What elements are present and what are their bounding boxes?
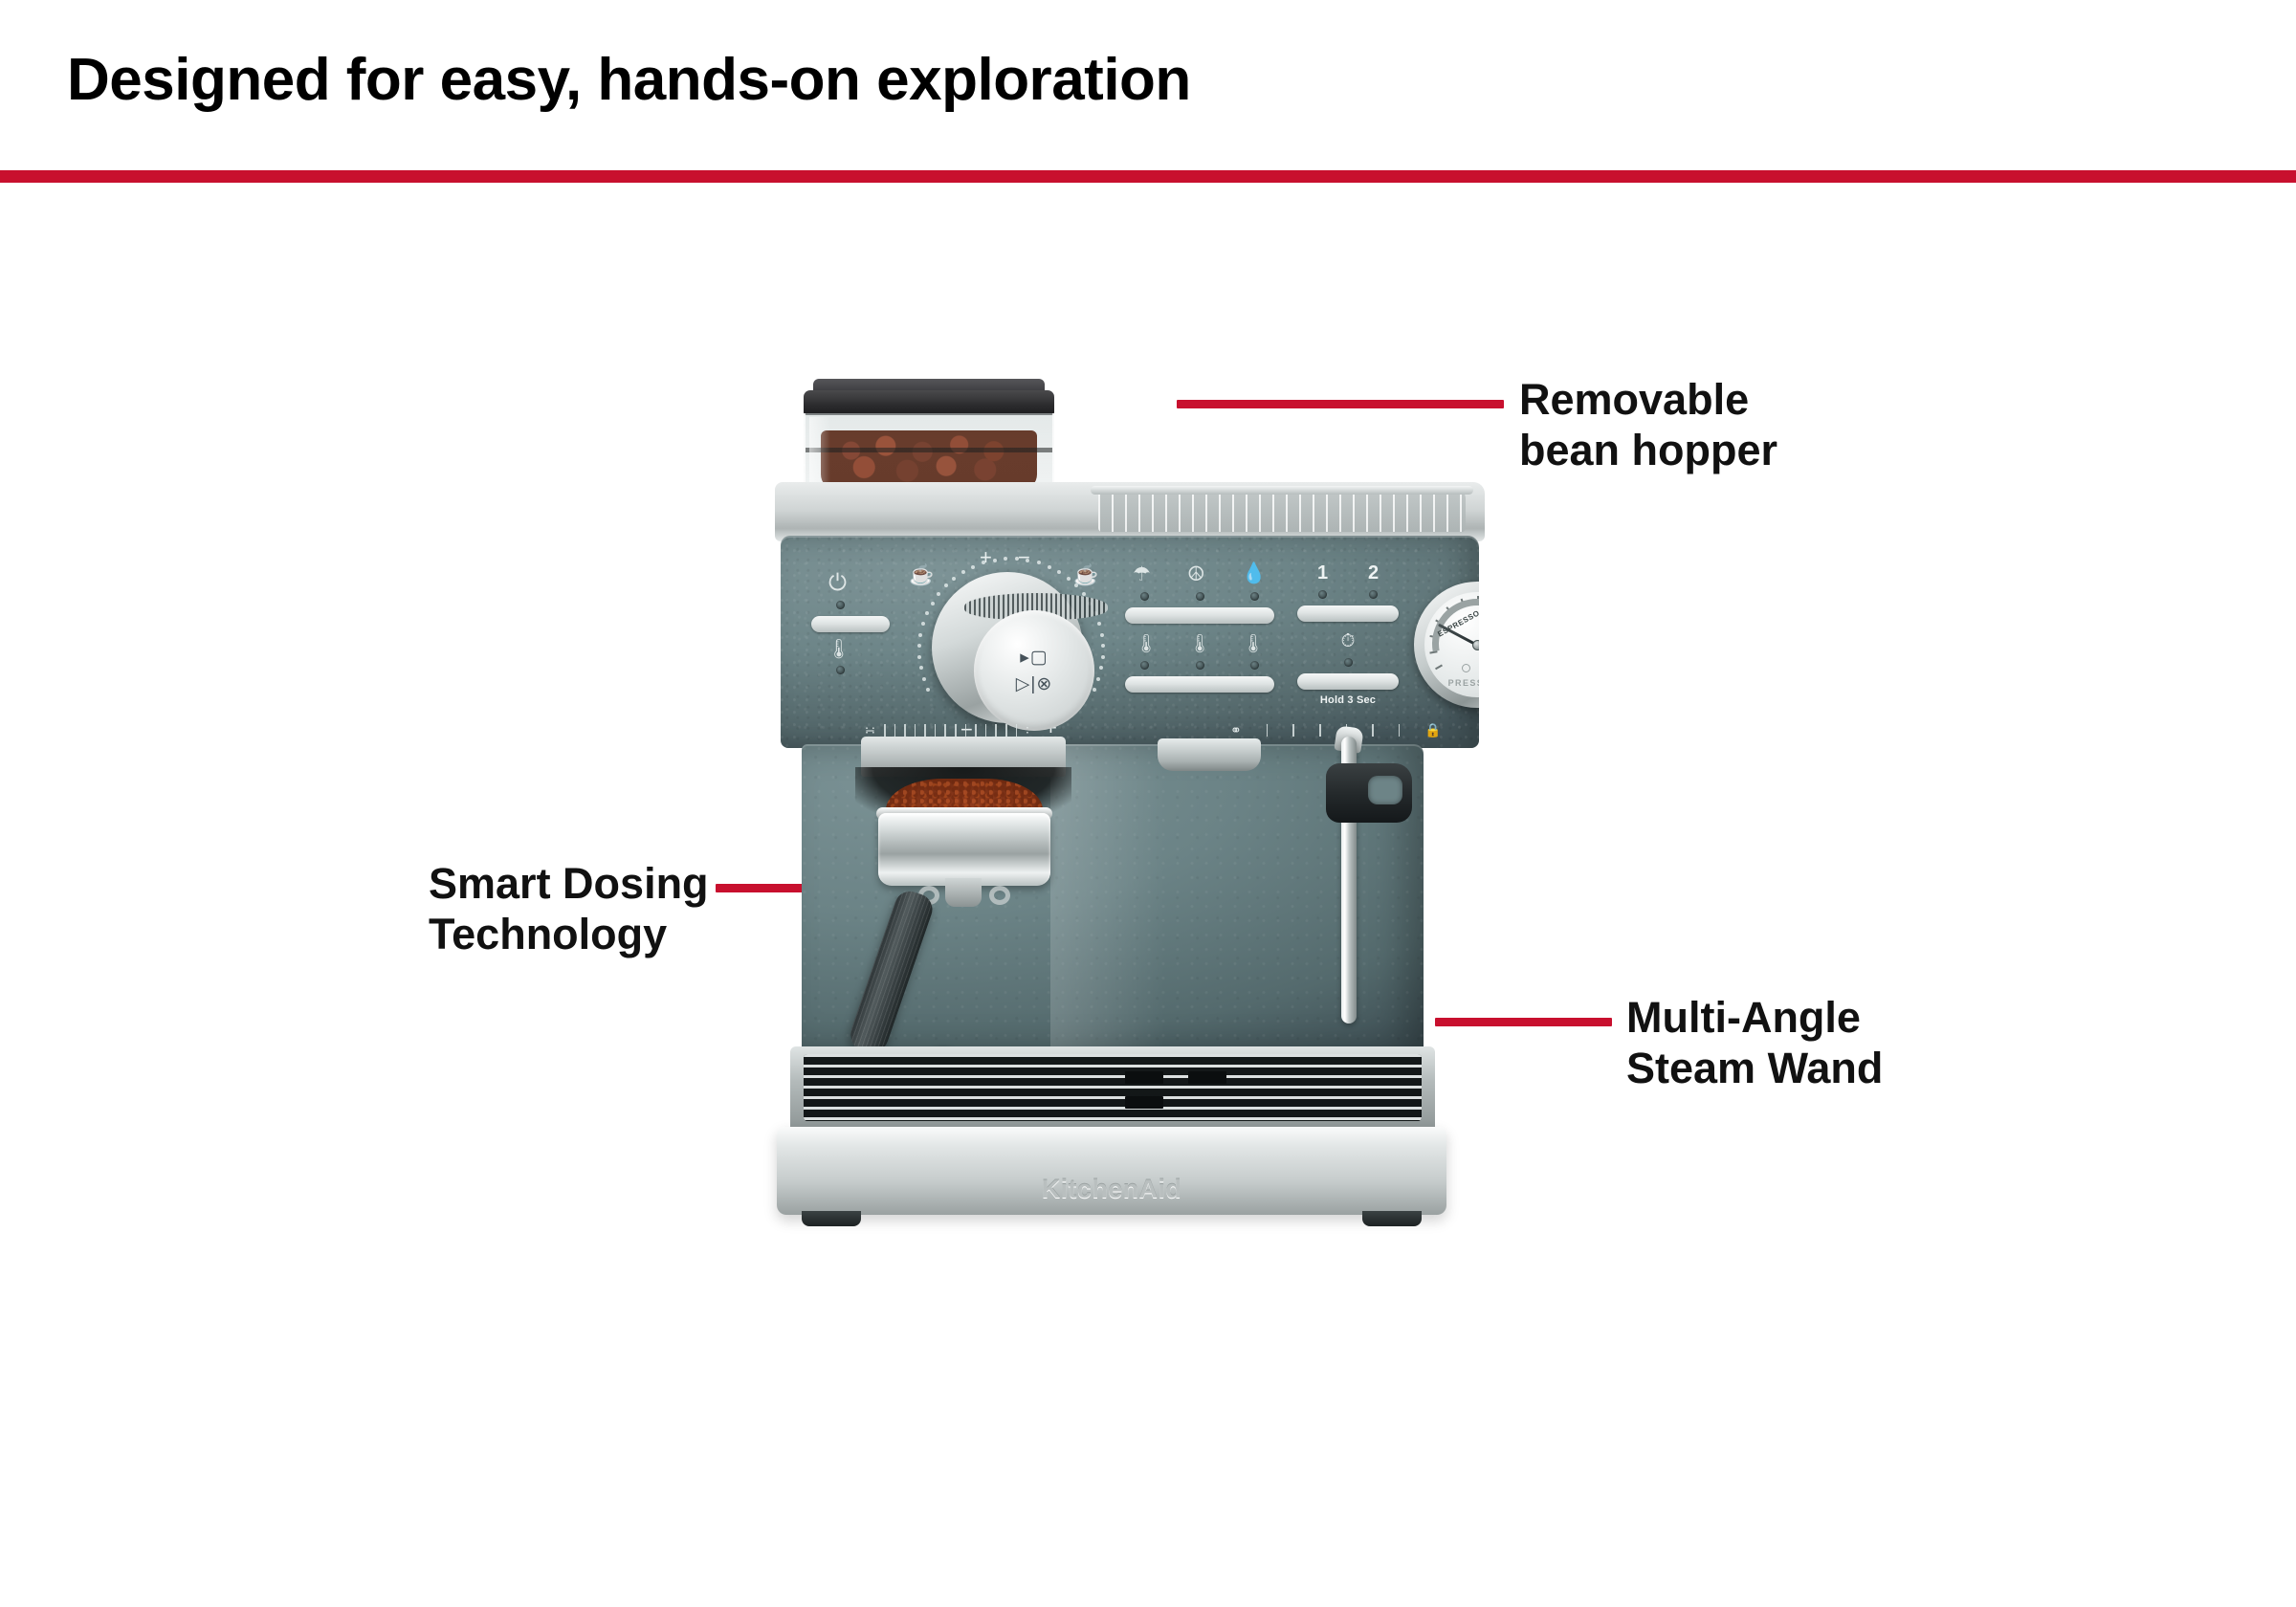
grind-tick (944, 724, 946, 737)
infographic-page: Designed for easy, hands-on exploration … (0, 0, 2296, 1607)
grind-size-scale[interactable]: ∺ ∶ (865, 724, 1029, 737)
portafilter-icon: ⚭ (1230, 723, 1242, 737)
shot-led-1 (1318, 590, 1327, 599)
dial-scale-dot (917, 655, 921, 659)
dial-scale-dot (1004, 557, 1007, 561)
power-icon: ⏻ (828, 570, 847, 597)
lock-icon: 🔒 (1424, 723, 1441, 737)
title-divider (0, 170, 2296, 183)
dial-scale-dot (961, 570, 965, 574)
drip-tray[interactable] (790, 1046, 1435, 1134)
hopper-seam (806, 448, 1052, 452)
machine-base: KitchenAid (777, 1127, 1446, 1215)
portafilter-basket[interactable] (878, 813, 1050, 886)
drip-tray-slot (1125, 1096, 1163, 1109)
dial-scale-dot (1097, 622, 1101, 626)
dial-scale-dot (1015, 557, 1019, 561)
beverage-icon-row: ☂ ☮ 💧 (1125, 562, 1274, 586)
cup-warming-tray (1098, 490, 1466, 532)
base-foot-left (802, 1211, 861, 1226)
warming-tray-ribs (1098, 490, 1466, 532)
grind-tick (955, 724, 957, 737)
dial-scale-dot (1026, 559, 1029, 562)
shot-select-button[interactable] (1297, 605, 1399, 622)
callout-multi-angle-steam-wand: Multi-Angle Steam Wand (1626, 993, 1883, 1093)
temperature-led (1250, 661, 1259, 670)
drip-tray-ribs (804, 1054, 1422, 1121)
top-plate (775, 482, 1485, 541)
temperature-led (1140, 661, 1149, 670)
coffee-beans (821, 430, 1037, 490)
gauge-subdial-left (1462, 664, 1470, 672)
grind-tick (975, 724, 977, 737)
dial-scale-dot (1067, 577, 1071, 581)
control-head: ⏻ 🌡 + − ☕ ☕ − + ▸▢ ▷|⊗ (781, 536, 1479, 748)
grind-tick (935, 724, 937, 737)
dial-scale-dot (917, 644, 921, 648)
lock-tick (1372, 724, 1374, 737)
drip-tray-openings (1125, 1071, 1261, 1094)
beverage-led (1140, 592, 1149, 601)
dial-scale-dot (1037, 561, 1041, 564)
secondary-brew-outlet (1158, 738, 1261, 771)
dial-scale-dot (1099, 666, 1103, 670)
beverage-select-button[interactable] (1125, 607, 1274, 624)
brand-wordmark: KitchenAid (777, 1175, 1446, 1204)
dial-scale-dot (1096, 677, 1100, 681)
shot-count-group: 1 2 ⏱ Hold 3 Sec (1297, 562, 1399, 706)
gauge-face: ESPRESSO RANGE PRESSURE (1424, 592, 1479, 697)
power-indicator-led (836, 601, 845, 609)
drip-tray-slot (1125, 1071, 1163, 1084)
drip-tray-grille (804, 1054, 1422, 1121)
grind-tick (965, 724, 967, 737)
callout-smart-dosing-technology: Smart Dosing Technology (429, 859, 716, 959)
front-scales-band: ∺ ∶ ⚭ 🔒 (781, 710, 1479, 738)
temperature-indicator-led (836, 666, 845, 674)
callout-label-steam-wand: Multi-Angle Steam Wand (1626, 993, 1883, 1093)
callout-removable-bean-hopper: Removable bean hopper (1519, 375, 1777, 475)
temp-mid-icon: 🌡 (1188, 632, 1211, 655)
temperature-icon-row: 🌡 🌡 🌡 (1125, 632, 1274, 655)
temp-low-icon: 🌡 (1135, 632, 1158, 655)
portafilter-lugs (918, 886, 1010, 907)
dial-scale-dot (922, 677, 926, 681)
grind-coarse-icon: ∶ (1026, 724, 1028, 737)
shot-label-2: 2 (1368, 562, 1379, 584)
grind-tick (884, 724, 886, 737)
beverage-led (1250, 592, 1259, 601)
gauge-subdials (1424, 664, 1479, 672)
temperature-led-row (1125, 661, 1274, 670)
steam-wand-grip[interactable] (1326, 763, 1412, 823)
dial-scale-dot (944, 583, 948, 587)
bean-hopper-lid[interactable] (804, 390, 1054, 415)
steam-wand-grip-opening (1368, 776, 1402, 804)
portafilter-lug-right (989, 886, 1010, 905)
lock-tick (1292, 724, 1294, 737)
temperature-select-button[interactable] (1125, 676, 1274, 693)
grind-tick (915, 724, 916, 737)
gauge-hub (1472, 640, 1480, 650)
callout-label-smart-dosing: Smart Dosing Technology (429, 859, 716, 959)
dial-scale-dot (1048, 565, 1051, 569)
grind-tick (995, 724, 997, 737)
lock-tick (1319, 724, 1321, 737)
dial-scale-dot (1101, 655, 1105, 659)
dial-scale-dot (918, 633, 922, 637)
water-drop-icon: 💧 (1242, 562, 1267, 586)
dial-scale-dot (926, 688, 930, 692)
grind-tick (985, 724, 987, 737)
temperature-led (1196, 661, 1204, 670)
dial-scale-dot (1100, 633, 1104, 637)
dial-scale-dot (971, 565, 975, 569)
shot-led-row (1297, 590, 1399, 599)
dial-scale-dot (921, 622, 925, 626)
dial-scale-dot (1057, 570, 1061, 574)
dial-scale-dot (1074, 583, 1078, 587)
hold-3-sec-label: Hold 3 Sec (1297, 694, 1399, 706)
grind-tick (1016, 724, 1018, 737)
grind-fine-icon: ∺ (865, 724, 875, 737)
temperature-icon: 🌡 (827, 637, 850, 661)
grind-tick (1005, 724, 1007, 737)
dial-scale-dot (952, 577, 956, 581)
dial-scale-dot (925, 611, 929, 615)
grind-tick (894, 724, 896, 737)
power-button[interactable] (811, 616, 890, 632)
lock-tick (1267, 724, 1269, 737)
grind-tick (924, 724, 926, 737)
americano-cup-icon: ☂ (1133, 562, 1151, 586)
lock-tick (1399, 724, 1401, 737)
dial-scale-dot (937, 592, 940, 596)
shot-timer-led-row (1297, 658, 1399, 667)
grind-dial-ring[interactable]: ▸▢ ▷|⊗ (932, 572, 1083, 723)
dial-scale-dot (1101, 644, 1105, 648)
drip-tray-slot (1188, 1071, 1226, 1084)
gauge-unit-label: PRESSURE (1434, 678, 1479, 688)
temp-high-icon: 🌡 (1242, 632, 1265, 655)
dial-scale-dot (982, 561, 985, 564)
beverage-led-row (1125, 592, 1274, 601)
callout-label-bean-hopper: Removable bean hopper (1519, 375, 1777, 475)
beverage-led (1196, 592, 1204, 601)
warming-tray-rail (1091, 486, 1473, 495)
shot-number-row: 1 2 (1297, 562, 1399, 584)
shot-timer-button[interactable] (1297, 673, 1399, 690)
start-stop-icon: ▷|⊗ (1016, 673, 1052, 695)
grind-tick (904, 724, 906, 737)
shot-timer-led (1344, 658, 1353, 667)
espresso-machine-product-image: ⏻ 🌡 + − ☕ ☕ − + ▸▢ ▷|⊗ (756, 362, 1512, 1423)
pressure-gauge: ESPRESSO RANGE PRESSURE (1414, 582, 1479, 708)
shot-timer-icon: ⏱ (1297, 631, 1399, 652)
dial-scale-dot (931, 602, 935, 605)
base-foot-right (1362, 1211, 1422, 1226)
shot-led-2 (1369, 590, 1378, 599)
dial-scale-dot (993, 559, 997, 562)
shot-label-1: 1 (1317, 562, 1328, 584)
steam-icon: ☮ (1187, 562, 1205, 586)
page-title: Designed for easy, hands-on exploration (67, 46, 1191, 114)
beverage-control-group: ☂ ☮ 💧 🌡 🌡 🌡 (1125, 562, 1274, 693)
dial-scale-dot (1093, 688, 1096, 692)
dial-scale-dot (919, 666, 923, 670)
grind-dose-icon: ▸▢ (1020, 647, 1049, 669)
